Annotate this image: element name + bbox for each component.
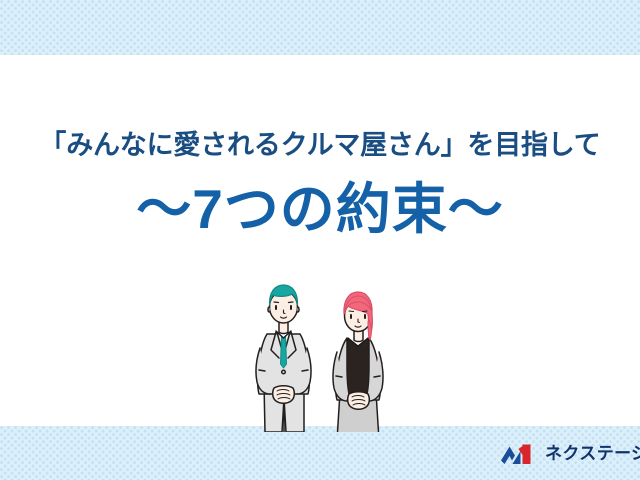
logo-wordmark: ネクステージ xyxy=(545,442,640,466)
female-staff-figure xyxy=(333,292,383,432)
top-dot-band xyxy=(0,0,640,55)
slide-canvas: 「みんなに愛されるクルマ屋さん」を目指して ～7つの約束～ xyxy=(0,0,640,480)
page-headline: 「みんなに愛されるクルマ屋さん」を目指して xyxy=(0,128,640,162)
page-subheadline: ～7つの約束～ xyxy=(0,177,640,241)
nextage-logo: ネクステージ xyxy=(500,441,640,467)
staff-illustration xyxy=(246,272,416,432)
male-staff-figure xyxy=(256,285,311,432)
nextage-n-mark xyxy=(500,442,538,466)
